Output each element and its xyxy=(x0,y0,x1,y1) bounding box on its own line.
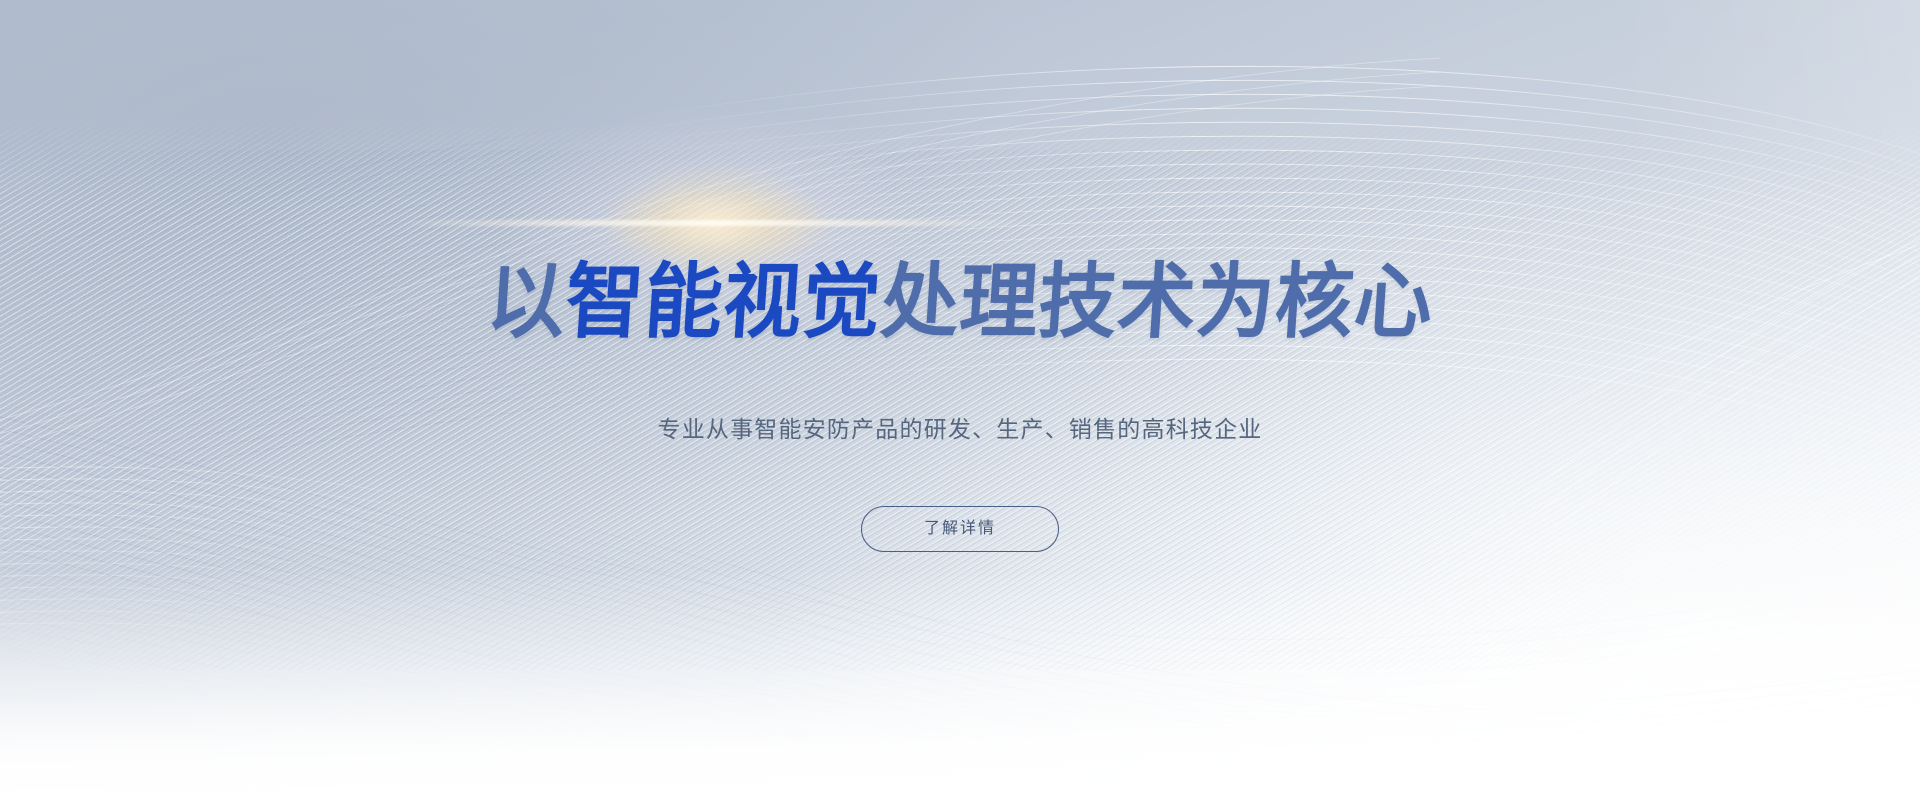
headline-segment-2: 智能视觉 xyxy=(563,262,884,344)
hero-content: 以智能视觉处理技术为核心 专业从事智能安防产品的研发、生产、销售的高科技企业 了… xyxy=(0,0,1920,800)
headline-segment-3: 处理技术为核心 xyxy=(878,262,1435,344)
page-subtitle: 专业从事智能安防产品的研发、生产、销售的高科技企业 xyxy=(0,412,1920,447)
learn-more-button[interactable]: 了解详情 xyxy=(861,506,1059,552)
hero-banner: 以智能视觉处理技术为核心 专业从事智能安防产品的研发、生产、销售的高科技企业 了… xyxy=(0,0,1920,800)
page-title: 以智能视觉处理技术为核心 xyxy=(45,262,1874,344)
cta-container: 了解详情 xyxy=(0,506,1920,552)
headline-segment-1: 以 xyxy=(484,262,568,344)
